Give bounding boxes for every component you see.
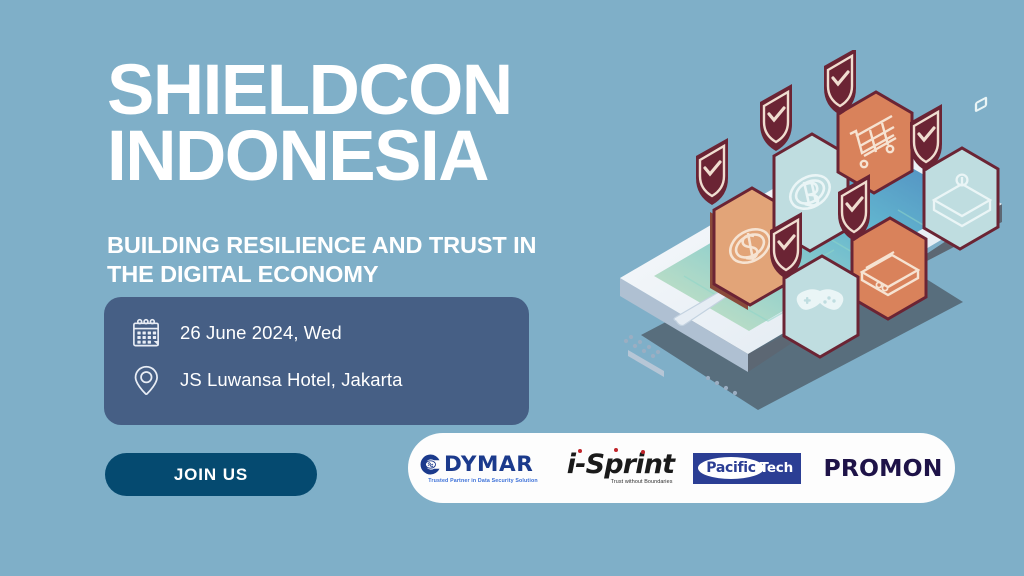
- app-card-atm-wallet: [910, 98, 998, 249]
- sponsor-logo-dymar[interactable]: DYMAR Trusted Partner in Data Security S…: [408, 433, 558, 503]
- title-line-2: INDONESIA: [107, 124, 577, 190]
- sponsor-logo-pacific-tech[interactable]: Pacific Tech: [683, 433, 811, 503]
- sponsor-logo-i-sprint[interactable]: i-Sprint Trust without Boundaries: [558, 433, 683, 503]
- pacific-ellipse: Pacific: [698, 457, 764, 479]
- sponsor-logo-bar: DYMAR Trusted Partner in Data Security S…: [408, 433, 955, 503]
- join-us-button[interactable]: JOIN US: [105, 453, 317, 496]
- dymar-tagline: Trusted Partner in Data Security Solutio…: [419, 478, 547, 484]
- join-us-label: JOIN US: [174, 465, 248, 485]
- event-location-row: JS Luwansa Hotel, Jakarta: [130, 363, 403, 397]
- pacific-wordmark: Pacific: [706, 460, 756, 476]
- dymar-wordmark: DYMAR: [444, 452, 533, 477]
- isprint-accent-dot-2: [614, 448, 618, 452]
- subtitle: BUILDING RESILIENCE AND TRUST IN THE DIG…: [107, 231, 559, 288]
- phone-bottom-grille: [628, 350, 664, 377]
- sponsor-logo-promon[interactable]: PROMON: [811, 433, 955, 503]
- isprint-accent-dot-1: [578, 449, 582, 453]
- title-line-1: SHIELDCON: [107, 58, 577, 124]
- shield-check-icon: [696, 138, 728, 205]
- event-banner: SHIELDCON INDONESIA BUILDING RESILIENCE …: [0, 0, 1024, 576]
- shield-check-icon: [910, 104, 942, 171]
- isprint-accent-dot-3: [641, 450, 645, 454]
- calendar-icon: [130, 316, 163, 350]
- isometric-phone-illustration: [598, 50, 1024, 430]
- app-card-shopping-cart: [824, 50, 912, 193]
- page-title: SHIELDCON INDONESIA: [107, 58, 577, 190]
- shield-check-icon: [760, 84, 792, 151]
- event-date-text: 26 June 2024, Wed: [180, 322, 342, 344]
- isprint-wordmark: i-Sprint: [565, 451, 677, 478]
- event-info-card: 26 June 2024, Wed JS Luwansa Hotel, Jaka…: [104, 297, 529, 425]
- event-date-row: 26 June 2024, Wed: [130, 316, 342, 350]
- dymar-ring-icon: [419, 453, 442, 476]
- promon-wordmark: PROMON: [824, 454, 943, 482]
- location-pin-icon: [130, 363, 163, 397]
- event-location-text: JS Luwansa Hotel, Jakarta: [180, 369, 403, 391]
- pacific-tech-wordmark: Tech: [760, 460, 793, 476]
